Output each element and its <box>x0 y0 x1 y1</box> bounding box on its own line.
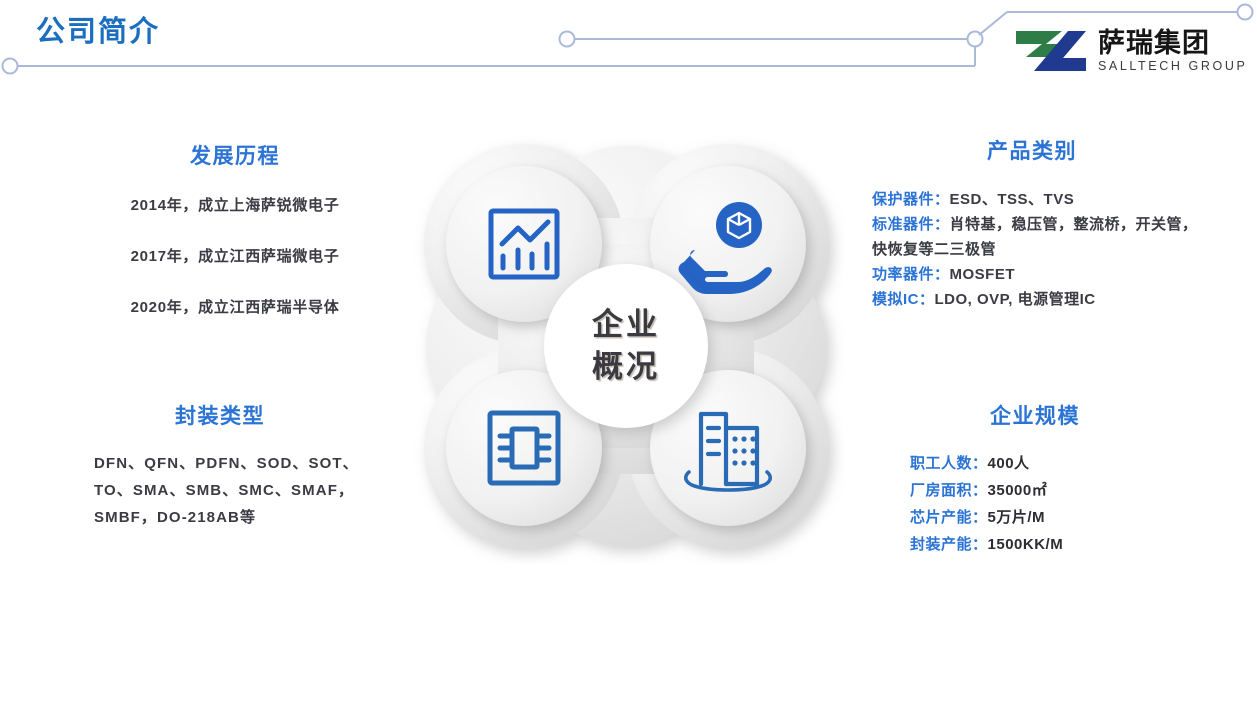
product-row-3-value: MOSFET <box>950 266 1016 283</box>
history-item-3: 2020年，成立江西萨瑞半导体 <box>70 296 400 317</box>
panel-package-types: 封装类型 DFN、QFN、PDFN、SOD、SOT、TO、SMA、SMB、SMC… <box>70 400 370 531</box>
enterprise-overview-diagram: 企业 概况 <box>408 128 844 564</box>
panel-title-product: 产品类别 <box>862 135 1202 165</box>
history-item-2: 2017年，成立江西萨瑞微电子 <box>70 245 400 266</box>
product-row-1-label: 保护器件： <box>872 191 950 208</box>
panel-title-history: 发展历程 <box>70 140 400 170</box>
panel-title-scale: 企业规模 <box>880 400 1190 430</box>
history-item-1: 2014年，成立上海萨锐微电子 <box>70 194 400 215</box>
scale-row-1-label: 职工人数： <box>910 455 988 472</box>
panel-title-package: 封装类型 <box>70 400 370 430</box>
salltech-logo-mark <box>1012 27 1090 75</box>
center-circle <box>544 264 708 428</box>
package-types-text: DFN、QFN、PDFN、SOD、SOT、TO、SMA、SMB、SMC、SMAF… <box>70 450 370 531</box>
logo-english-name: SALLTECH GROUP <box>1098 60 1247 73</box>
product-row-2-label: 标准器件： <box>872 216 950 233</box>
scale-row-3: 芯片产能：5万片/M <box>880 504 1190 531</box>
scale-row-3-label: 芯片产能： <box>910 509 988 526</box>
scale-row-4-value: 1500KK/M <box>988 536 1064 553</box>
scale-row-4-label: 封装产能： <box>910 536 988 553</box>
product-row-4-label: 模拟IC： <box>872 291 935 308</box>
scale-row-3-value: 5万片/M <box>988 509 1046 526</box>
scale-row-1-value: 400人 <box>988 455 1030 472</box>
page-title: 公司简介 <box>36 8 160 50</box>
scale-row-4: 封装产能：1500KK/M <box>880 531 1190 558</box>
product-row-1-value: ESD、TSS、TVS <box>950 191 1075 208</box>
product-categories-list: 保护器件：ESD、TSS、TVS 标准器件：肖特基，稳压管，整流桥，开关管，快恢… <box>862 187 1202 312</box>
product-row-3-label: 功率器件： <box>872 266 950 283</box>
scale-row-2-value: 35000㎡ <box>988 482 1048 499</box>
buildings-window-dots <box>732 436 755 465</box>
product-row-4-value: LDO, OVP, 电源管理IC <box>935 291 1096 308</box>
panel-product-categories: 产品类别 保护器件：ESD、TSS、TVS 标准器件：肖特基，稳压管，整流桥，开… <box>862 135 1202 312</box>
panel-enterprise-scale: 企业规模 职工人数：400人 厂房面积：35000㎡ 芯片产能：5万片/M 封装… <box>880 400 1190 558</box>
panel-development-history: 发展历程 2014年，成立上海萨锐微电子 2017年，成立江西萨瑞微电子 202… <box>70 140 400 347</box>
logo-chinese-name: 萨瑞集团 <box>1098 30 1247 57</box>
scale-row-1: 职工人数：400人 <box>880 450 1190 477</box>
company-logo: 萨瑞集团 SALLTECH GROUP <box>1012 22 1244 80</box>
scale-row-2-label: 厂房面积： <box>910 482 988 499</box>
scale-row-2: 厂房面积：35000㎡ <box>880 477 1190 504</box>
